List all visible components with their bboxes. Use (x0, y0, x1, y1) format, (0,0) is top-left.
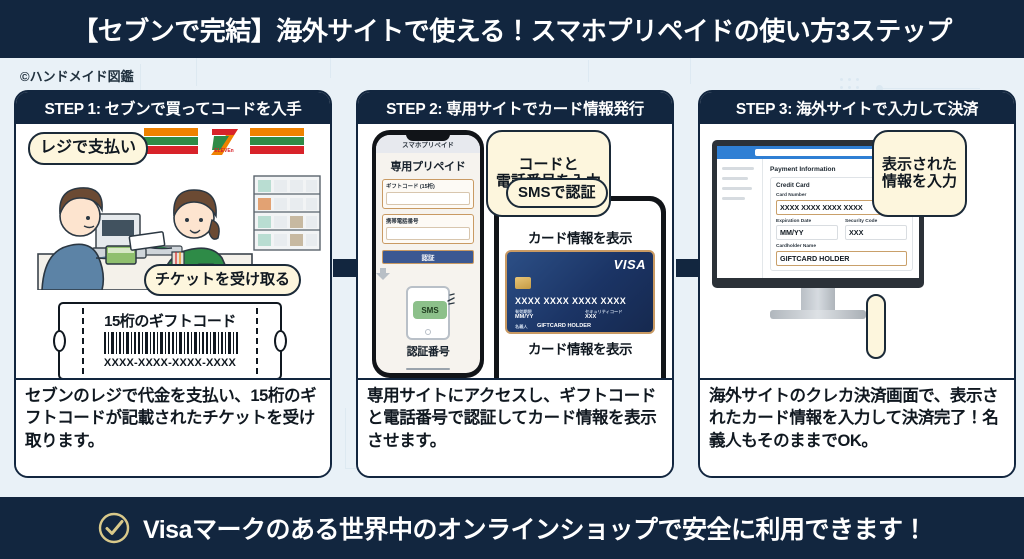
monitor-stand-neck (801, 288, 835, 310)
bubble-step2-sms-auth-text: SMSで認証 (518, 184, 596, 201)
step-card-3: STEP 3: 海外サイトで入力して決済 (698, 90, 1016, 478)
step-1-body: ELEVEn (16, 124, 330, 476)
card-name-label: 名義人 (515, 324, 528, 330)
card-exp-value: MM/YY (515, 314, 533, 320)
phone-notch (406, 134, 450, 141)
sms-device-icon: SMS (406, 286, 450, 340)
seven-digit-icon: ELEVEn (198, 126, 250, 158)
step-1-illustration: ELEVEn (16, 124, 330, 414)
security-code-label: Security Code (845, 219, 907, 224)
ticket-code-value: XXXX-XXXX-XXXX-XXXX (60, 357, 280, 369)
phone-home-indicator (406, 368, 450, 371)
giftcode-field-label: ギフトコード (15桁) (386, 182, 470, 190)
cardholder-name-input[interactable]: GIFTCARD HOLDER (776, 251, 907, 266)
smartphone-card-mockup: カード情報を表示 VISA XXXX XXXX XXXX XXXX 有効期限 M… (494, 196, 666, 378)
phone-number-field[interactable]: 携帯電話番号 (382, 214, 474, 244)
step-3-illustration: Payment Information VISA Credit Card Car… (700, 124, 1014, 414)
step-2-heading: STEP 2: 専用サイトでカード情報発行 (358, 92, 672, 124)
auth-code-label: 認証番号 (376, 343, 480, 359)
monitor-stand-base (770, 310, 866, 319)
step-card-1: STEP 1: セブンで買ってコードを入手 ELEVEn (14, 90, 332, 478)
header-bar: 【セブンで完結】海外サイトで使える！スマホプリペイドの使い方3ステップ (0, 0, 1024, 58)
bubble-step1-pay-text: レジで支払い (40, 139, 136, 156)
card-name-value: GIFTCARD HOLDER (537, 323, 591, 329)
phone-screen: スマホプリペイド 専用プリペイド ギフトコード (15桁) 携帯電話番号 認証 (376, 135, 480, 373)
security-code-input[interactable]: XXX (845, 225, 907, 240)
step-2-illustration: スマホプリペイド 専用プリペイド ギフトコード (15桁) 携帯電話番号 認証 (358, 124, 672, 414)
down-arrow-icon (376, 268, 390, 280)
card-cvv-value: XXX (585, 314, 596, 320)
phone-page-heading: 専用プリペイド (376, 158, 480, 174)
giftcode-field[interactable]: ギフトコード (15桁) (382, 179, 474, 209)
card-display-label-top: カード情報を表示 (499, 227, 661, 247)
barcode-icon (104, 332, 240, 354)
smartphone-mockup: スマホプリペイド 専用プリペイド ギフトコード (15桁) 携帯電話番号 認証 (372, 130, 484, 378)
visa-card-graphic: VISA XXXX XXXX XXXX XXXX 有効期限 MM/YY セキュリ… (505, 250, 655, 334)
step-2-caption: 専用サイトにアクセスし、ギフトコードと電話番号で認証してカード情報を表示させます… (358, 378, 672, 476)
footer-banner: Visaマークのある世界中のオンラインショップで安全に利用できます！ (0, 497, 1024, 559)
ticket-notch-right (274, 330, 287, 352)
infographic-page: 【セブンで完結】海外サイトで使える！スマホプリペイドの使い方3ステップ ©ハンド… (0, 0, 1024, 559)
bubble-step3-holder-name (866, 294, 886, 359)
visa-brand-logo: VISA (614, 257, 646, 272)
step-2-body: スマホプリペイド 専用プリペイド ギフトコード (15桁) 携帯電話番号 認証 (358, 124, 672, 476)
step-1-heading: STEP 1: セブンで買ってコードを入手 (16, 92, 330, 124)
check-circle-icon (97, 511, 131, 545)
ticket-title: 15桁のギフトコード (60, 310, 280, 331)
ticket-notch-left (53, 330, 66, 352)
step-3-heading: STEP 3: 海外サイトで入力して決済 (700, 92, 1014, 124)
expiration-date-label: Expiration Date (776, 219, 838, 224)
bubble-step3-enter-info-text: 表示された 情報を入力 (882, 156, 957, 191)
bubble-step2-sms-auth: SMSで認証 (506, 178, 608, 208)
card-chip-icon (515, 277, 531, 289)
notification-sparkle-icon (446, 292, 460, 306)
bubble-step1-pay: レジで支払い (28, 132, 148, 165)
card-display-label-bottom: カード情報を表示 (499, 338, 661, 358)
bubble-step1-receive-text: チケットを受け取る (155, 271, 290, 288)
phone-card-screen: カード情報を表示 VISA XXXX XXXX XXXX XXXX 有効期限 M… (499, 201, 661, 378)
cardholder-name-label: Cardholder Name (776, 244, 907, 249)
phone-number-input[interactable] (386, 227, 470, 240)
sms-home-button (425, 329, 431, 335)
credit-line: ©ハンドメイド図鑑 (20, 66, 134, 85)
card-number-value: XXXX XXXX XXXX XXXX (515, 296, 626, 306)
phone-number-field-label: 携帯電話番号 (386, 217, 470, 225)
step-3-caption: 海外サイトのクレカ決済画面で、表示されたカード情報を入力して決済完了！名義人もそ… (700, 378, 1014, 476)
authenticate-button[interactable]: 認証 (382, 250, 474, 264)
gift-code-ticket: 15桁のギフトコード (58, 302, 282, 380)
bubble-step1-receive: チケットを受け取る (144, 264, 301, 296)
bubble-step3-enter-info: 表示された 情報を入力 (872, 130, 967, 217)
giftcode-input[interactable] (386, 192, 470, 205)
seven-eleven-logo: ELEVEn (144, 128, 304, 162)
step-3-body: Payment Information VISA Credit Card Car… (700, 124, 1014, 476)
sms-bubble: SMS (413, 301, 447, 319)
expiration-date-input[interactable]: MM/YY (776, 225, 838, 240)
page-title: 【セブンで完結】海外サイトで使える！スマホプリペイドの使い方3ステップ (72, 11, 951, 48)
step-card-2: STEP 2: 専用サイトでカード情報発行 スマホプリペイド 専用プリペイド ギ… (356, 90, 674, 478)
footer-message: Visaマークのある世界中のオンラインショップで安全に利用できます！ (143, 510, 927, 546)
svg-text:ELEVEn: ELEVEn (214, 148, 233, 154)
page-sidebar (717, 159, 763, 278)
step-1-caption: セブンのレジで代金を支払い、15桁のギフトコードが記載されたチケットを受け取りま… (16, 378, 330, 476)
